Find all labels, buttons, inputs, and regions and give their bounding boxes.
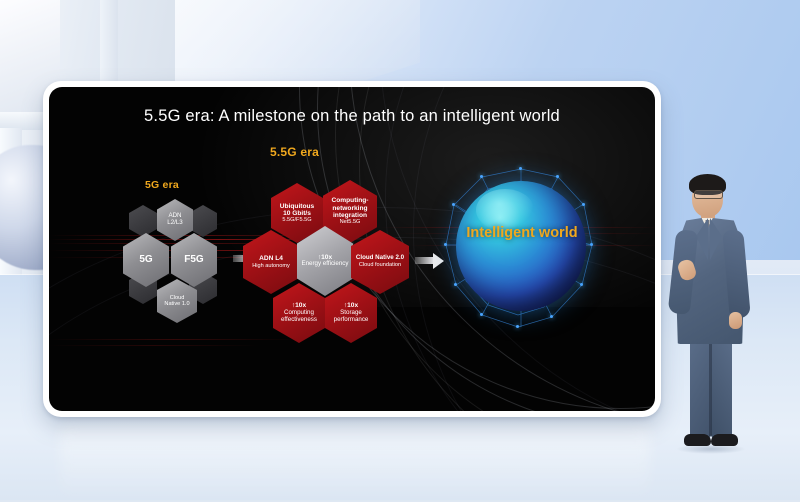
hex-line-1: Ubiquitous	[278, 203, 316, 210]
hex-line-2: Cloud foundation	[354, 262, 406, 268]
label-55g-era: 5.5G era	[270, 145, 319, 159]
hex-line-3: effectiveness	[279, 317, 319, 324]
presenter-shoe-left	[684, 434, 711, 446]
hex-line-3: integration	[330, 212, 371, 219]
presenter	[668, 172, 752, 455]
hex-line-1: Cloud Native 2.0	[354, 255, 406, 262]
presenter-glasses	[694, 190, 723, 199]
presenter-leg-gap	[709, 344, 712, 436]
hex-line-1: F5G	[182, 254, 205, 265]
red-streak	[49, 339, 299, 340]
hex-line-1: ADN L4	[250, 255, 292, 262]
globe-label: Intelligent world	[432, 225, 612, 242]
globe-label-line-2: world	[539, 225, 578, 241]
hex-line-2: Native 1.0	[162, 301, 191, 307]
hex-line-2: networking	[330, 205, 371, 212]
hex-line-2: 10 Gbit/s	[278, 210, 316, 217]
slide-canvas: 5.5G era: A milestone on the path to an …	[49, 87, 655, 411]
screen-floor-reflection	[60, 424, 650, 502]
intelligent-world-globe: Intelligent world	[432, 165, 612, 340]
red-streak	[49, 345, 259, 346]
hex-line-1: Computing-	[330, 197, 371, 204]
hex-line-3: 5.5G/F5.5G	[278, 217, 316, 223]
presenter-leg-right	[711, 338, 732, 438]
hex-line-2: High autonomy	[250, 263, 292, 269]
presenter-hand-right	[729, 312, 742, 329]
label-5g-era: 5G era	[145, 179, 179, 191]
hex-line-3: performance	[332, 317, 371, 324]
presenter-shoe-right	[711, 434, 738, 446]
hex-line-2: L2/L3	[165, 220, 184, 227]
hex-line-2: Energy efficiency	[299, 261, 350, 268]
globe-label-line-1: Intelligent	[466, 225, 534, 241]
hex-line-4: Net5.5G	[330, 219, 371, 225]
slide-title: 5.5G era: A milestone on the path to an …	[49, 107, 655, 126]
hex-line-1: 5G	[137, 254, 154, 265]
presenter-leg-left	[690, 338, 711, 438]
presentation-display: 5.5G era: A milestone on the path to an …	[43, 81, 661, 417]
